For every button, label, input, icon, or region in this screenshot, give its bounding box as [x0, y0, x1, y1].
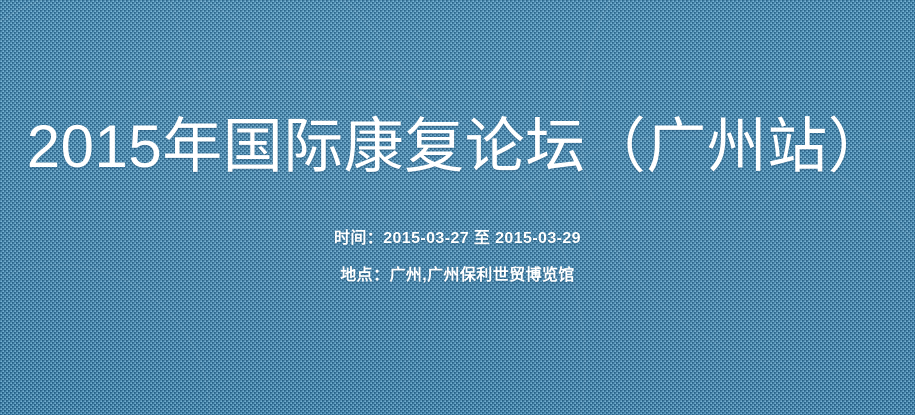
banner-content: 2015年国际康复论坛（广州站） 时间：2015-03-27 至 2015-03… [0, 0, 915, 415]
event-place-line: 地点：广州,广州保利世贸博览馆 [340, 268, 574, 284]
event-title: 2015年国际康复论坛（广州站） [27, 117, 888, 177]
event-time-line: 时间：2015-03-27 至 2015-03-29 [334, 231, 581, 247]
event-banner: 2015年国际康复论坛（广州站） 时间：2015-03-27 至 2015-03… [0, 0, 915, 415]
